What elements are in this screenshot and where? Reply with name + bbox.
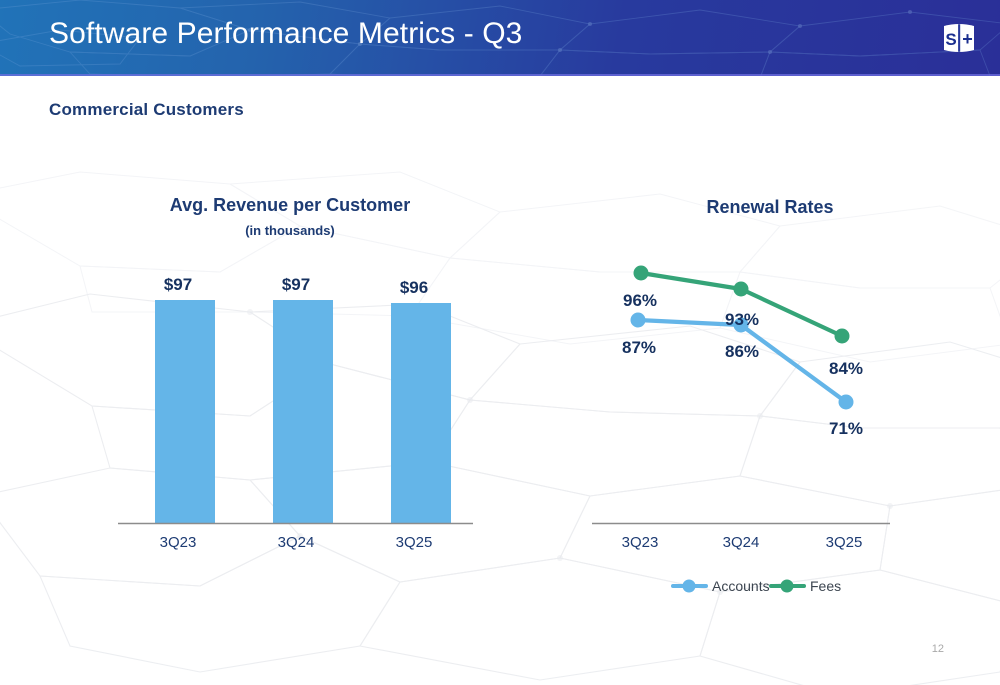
bar-3Q24[interactable]: [273, 300, 333, 523]
page-number: 12: [932, 643, 944, 655]
line-category-label: 3Q25: [826, 534, 863, 551]
bar-value-label: $97: [282, 275, 310, 294]
marker-accounts-3Q23[interactable]: [631, 313, 646, 328]
bar-value-label: $97: [164, 275, 192, 294]
bar-3Q25[interactable]: [391, 303, 451, 523]
section-heading: Commercial Customers: [49, 100, 244, 120]
line-category-label: 3Q23: [622, 534, 659, 551]
legend-label-fees: Fees: [810, 578, 841, 594]
page-title: Software Performance Metrics - Q3: [49, 17, 522, 51]
legend-label-accounts: Accounts: [712, 578, 770, 594]
legend-item-accounts[interactable]: Accounts: [673, 578, 770, 594]
fees-value-label: 93%: [725, 310, 759, 329]
svg-text:S: S: [945, 30, 956, 49]
bar-3Q23[interactable]: [155, 300, 215, 523]
line-category-label: 3Q24: [723, 534, 760, 551]
marker-accounts-3Q25[interactable]: [839, 395, 854, 410]
chart-renewal-rates: Renewal Rates 96% 93% 84% 87% 86% 71%: [560, 180, 980, 600]
bar-chart-plot: $97 $97 $96 3Q23 3Q24 3Q25: [60, 180, 520, 580]
marker-fees-3Q23[interactable]: [634, 266, 649, 281]
company-logo-icon: S +: [940, 21, 978, 55]
accounts-value-label: 71%: [829, 419, 863, 438]
accounts-value-label: 87%: [622, 338, 656, 357]
marker-fees-3Q24[interactable]: [734, 282, 749, 297]
bar-category-label: 3Q23: [160, 534, 197, 551]
line-chart-plot: 96% 93% 84% 87% 86% 71% 3Q23 3Q24 3Q25 A…: [560, 180, 980, 600]
header-accent-rule: [0, 74, 1000, 76]
fees-value-label: 84%: [829, 359, 863, 378]
bar-value-label: $96: [400, 278, 428, 297]
slide-canvas: Software Performance Metrics - Q3 S + Co…: [0, 0, 1000, 685]
svg-text:+: +: [962, 29, 973, 49]
bar-category-label: 3Q24: [278, 534, 315, 551]
bar-category-label: 3Q25: [396, 534, 433, 551]
fees-value-label: 96%: [623, 291, 657, 310]
slide-header: Software Performance Metrics - Q3 S +: [0, 0, 1000, 76]
legend-item-fees[interactable]: Fees: [771, 578, 841, 594]
chart-avg-revenue-per-customer: Avg. Revenue per Customer (in thousands)…: [60, 180, 520, 580]
accounts-value-label: 86%: [725, 342, 759, 361]
marker-fees-3Q25[interactable]: [835, 329, 850, 344]
